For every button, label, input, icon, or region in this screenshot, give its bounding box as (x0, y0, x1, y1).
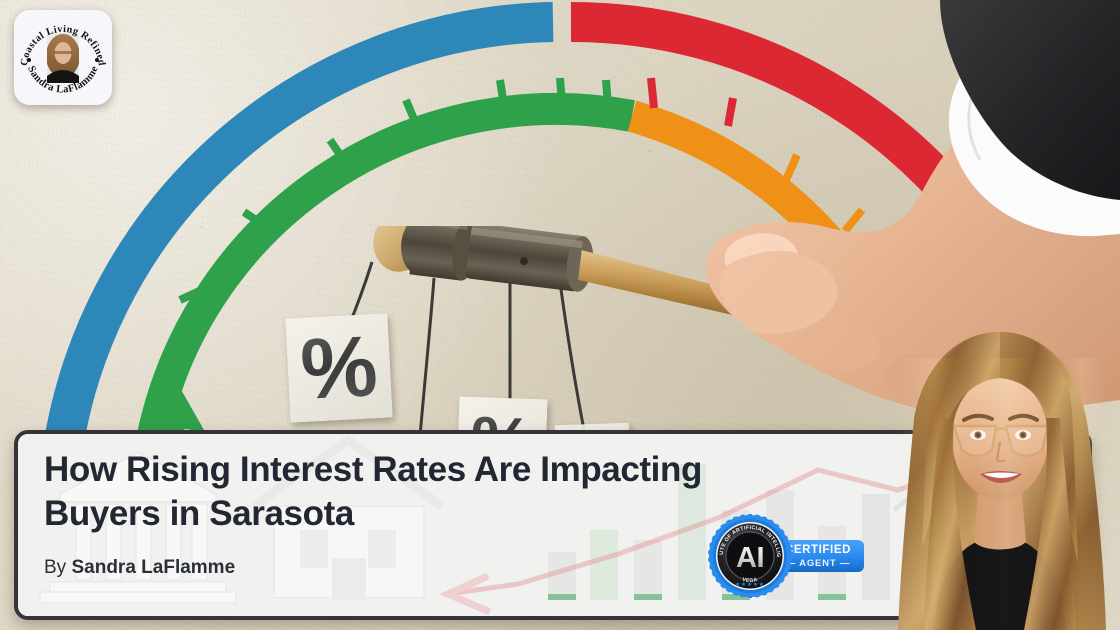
page-title: How Rising Interest Rates Are Impacting … (44, 448, 804, 537)
logo-dot-left (27, 58, 31, 62)
seal-stars: ★★★★★ (735, 581, 765, 588)
middle-finger (806, 321, 880, 369)
ai-certified-agent-badge: CERTIFIED — AGENT — INSTITUTE OF ARTIFIC… (706, 512, 868, 598)
ribbon-line1: CERTIFIED (785, 544, 851, 556)
hero-graphic: % % % (0, 0, 1120, 630)
hair-highlights (898, 358, 1106, 630)
byline-prefix: By (44, 557, 66, 578)
ai-monogram: AI (736, 542, 764, 574)
byline-author: Sandra LaFlamme (71, 557, 235, 578)
logo-dot-right (95, 58, 99, 62)
ribbon-line2: — AGENT — (786, 558, 850, 569)
coastal-living-refined-logo[interactable]: Coastal Living Refined Sandra LaFlamme (14, 10, 112, 105)
agent-portrait (880, 298, 1120, 630)
